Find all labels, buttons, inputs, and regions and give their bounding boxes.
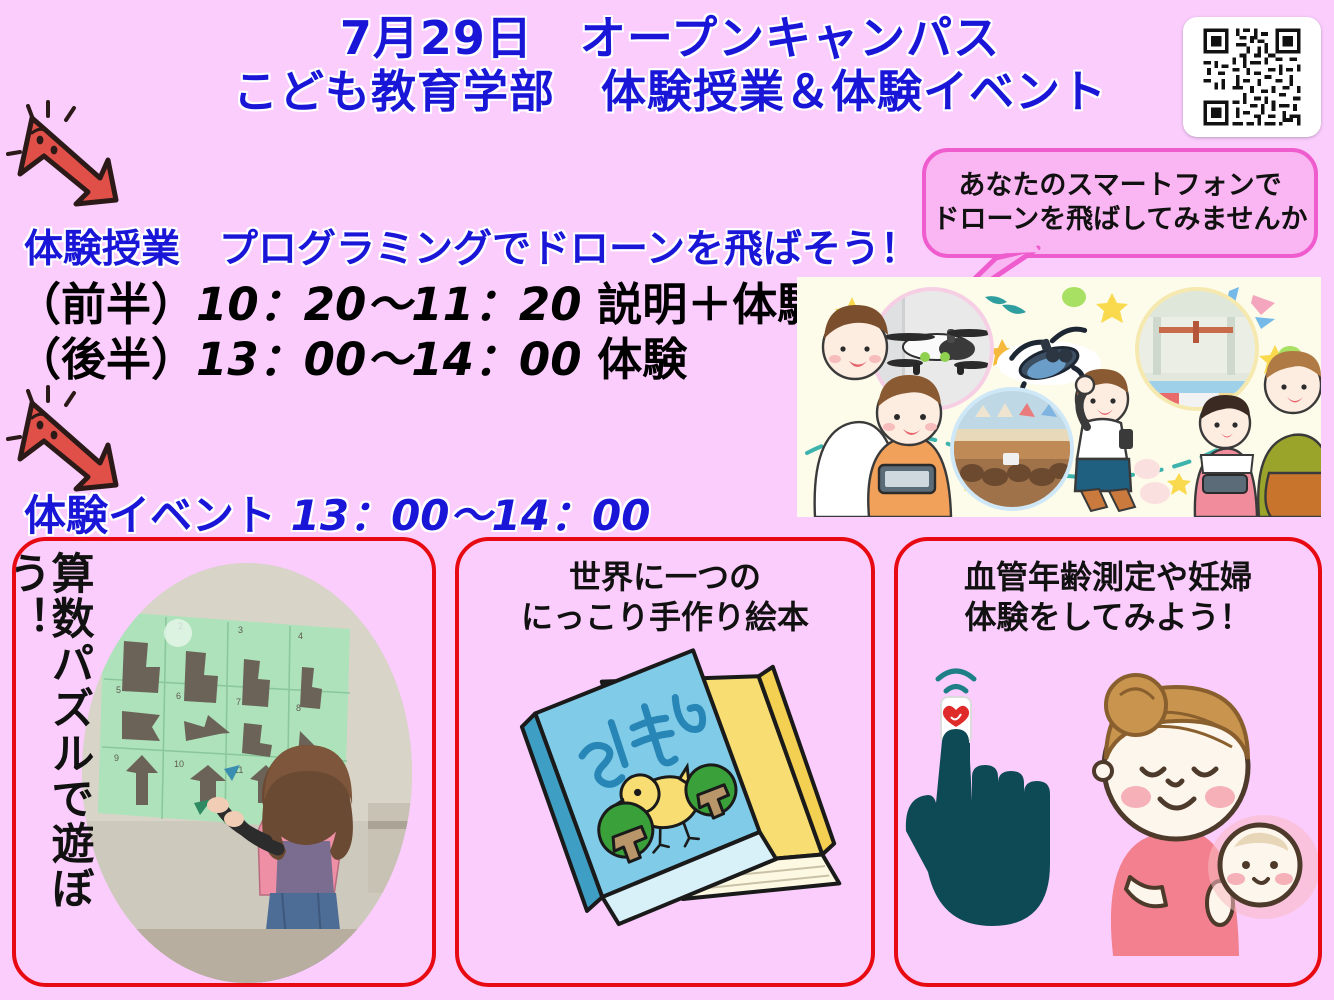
title-line-1: 7月29日 オープンキャンパス — [160, 14, 1180, 62]
svg-text:8: 8 — [296, 703, 301, 713]
lesson-schedule-row: （後半）13：00〜14：00 体験 — [16, 323, 687, 388]
hand-with-pulse-oximeter-icon — [906, 671, 1050, 926]
svg-text:5: 5 — [116, 685, 121, 695]
svg-text:9: 9 — [114, 753, 119, 763]
svg-text:1: 1 — [118, 617, 123, 627]
svg-text:6: 6 — [176, 691, 181, 701]
schedule-part-label: （後半） — [16, 333, 196, 386]
smiling-arrow-icon — [4, 100, 132, 220]
card-title-line-2: 体験をしてみよう！ — [898, 597, 1318, 637]
event-heading-time: 13：00〜14：00 — [291, 491, 651, 540]
title-line-2: こども教育学部 体験授業＆体験イベント — [160, 68, 1180, 115]
schedule-note-text: 体験 — [597, 333, 687, 386]
card-health-check[interactable]: 血管年齢測定や妊婦 体験をしてみよう！ — [894, 537, 1322, 987]
card-title-line-2: にっこり手作り絵本 — [459, 597, 871, 637]
card-title: 世界に一つの にっこり手作り絵本 — [459, 557, 871, 637]
speech-bubble: あなたのスマートフォンで ドローンを飛ばしてみませんか — [922, 148, 1318, 258]
card-title: 血管年齢測定や妊婦 体験をしてみよう！ — [898, 557, 1318, 637]
event-heading: 体験イベント 13：00〜14：00 — [24, 482, 650, 543]
qr-code-icon — [1200, 25, 1304, 129]
bubble-line-1: あなたのスマートフォンで — [958, 169, 1281, 203]
svg-text:4: 4 — [298, 631, 303, 641]
card-math-puzzle[interactable]: 算数パズルで遊ぼう！ — [12, 537, 436, 987]
event-heading-label: 体験イベント — [24, 491, 276, 540]
poster-title: 7月29日 オープンキャンパス こども教育学部 体験授業＆体験イベント — [160, 14, 1180, 116]
card-title-line-1: 世界に一つの — [459, 557, 871, 597]
card-vertical-title: 算数パズルで遊ぼう！ — [30, 551, 90, 983]
card-picture-book[interactable]: 世界に一つの にっこり手作り絵本 — [455, 537, 875, 987]
schedule-note — [582, 333, 598, 386]
poster-canvas: 7月29日 オープンキャンパス こども教育学部 体験授業＆体験イベント — [0, 0, 1334, 1000]
gym-photo-circle-2 — [1135, 287, 1259, 411]
math-puzzle-photo: 1234 5678 9101112 — [82, 563, 412, 983]
qr-code-panel[interactable] — [1183, 17, 1321, 137]
svg-text:10: 10 — [174, 759, 184, 769]
card-title-line-1: 血管年齢測定や妊婦 — [898, 557, 1318, 597]
picture-book-illustration — [459, 641, 875, 981]
svg-text:3: 3 — [238, 625, 243, 635]
gym-photo-circle-1 — [950, 387, 1074, 511]
schedule-time: 13：00〜14：00 — [196, 333, 582, 386]
drone-activity-collage — [797, 277, 1321, 517]
health-check-illustration — [898, 649, 1322, 979]
pregnant-woman-illustration — [1094, 675, 1320, 955]
svg-text:7: 7 — [236, 697, 241, 707]
bubble-line-2: ドローンを飛ばしてみませんか — [932, 203, 1307, 237]
lesson-heading: 体験授業 プログラミングでドローンを飛ばそう！ — [24, 218, 919, 274]
